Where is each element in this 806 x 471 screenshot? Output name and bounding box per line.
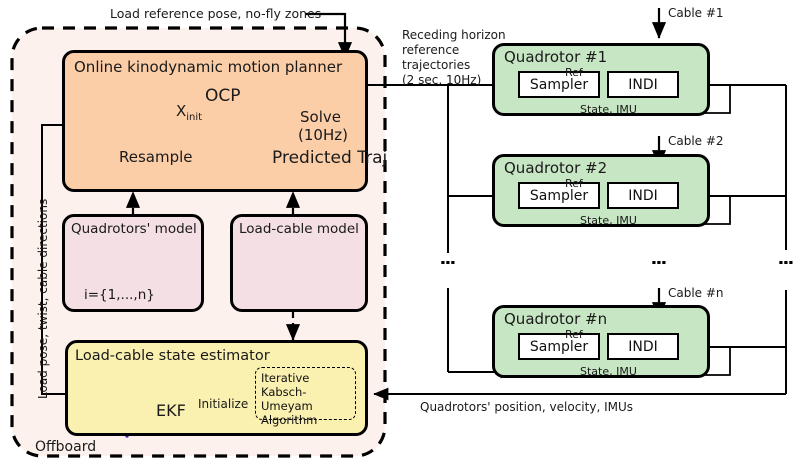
xinit-sub: init bbox=[186, 112, 202, 123]
load-reference-label: Load reference pose, no-fly zones bbox=[110, 7, 321, 21]
cable-1-label: Cable #1 bbox=[668, 7, 724, 20]
quadrotor-2-indi[interactable]: INDI bbox=[607, 182, 679, 209]
receding-line-2: reference bbox=[402, 43, 506, 58]
quadrotor-1-ref-label: Ref bbox=[565, 66, 583, 79]
load-cable-model-title: Load-cable model bbox=[239, 222, 359, 236]
feedback-bus-label: Quadrotors' position, velocity, IMUs bbox=[420, 400, 633, 414]
receding-line-1: Receding horizon bbox=[402, 28, 506, 43]
quadrotors-model-title: Quadrotors' model bbox=[71, 222, 197, 236]
quadrotor-1-state-label: State, IMU bbox=[580, 103, 637, 116]
ekf-label: EKF bbox=[156, 404, 186, 418]
quadrotor-n-ref-label: Ref bbox=[565, 328, 583, 341]
estimator-title: Load-cable state estimator bbox=[75, 348, 270, 365]
solve-label-line1: Solve bbox=[300, 110, 341, 124]
quadrotors-model-caption: i={1,...,n} bbox=[84, 288, 155, 302]
left-bus-label: Load pose, twist, cable directions bbox=[36, 199, 50, 399]
quadrotor-1-indi[interactable]: INDI bbox=[607, 71, 679, 98]
kabsch-umeyama-box[interactable]: Iterative Kabsch-Umeyam Algorithm bbox=[255, 367, 356, 420]
xinit-label: Xinit bbox=[176, 104, 202, 125]
quadrotor-n-indi[interactable]: INDI bbox=[607, 333, 679, 360]
quadrotor-n-state-label: State, IMU bbox=[580, 365, 637, 378]
ocp-node: OCP bbox=[205, 88, 241, 105]
cable-n-label: Cable #n bbox=[668, 287, 724, 300]
quadrotor-n-title: Quadrotor #n bbox=[504, 311, 607, 328]
ellipsis-left: ⋮ bbox=[444, 254, 449, 271]
algo-line-2: Kabsch-Umeyam bbox=[261, 385, 350, 413]
ellipsis-right: ⋮ bbox=[782, 254, 787, 271]
quadrotor-2-sampler[interactable]: Sampler bbox=[518, 182, 600, 209]
cable-2-label: Cable #2 bbox=[668, 135, 724, 148]
system-architecture-diagram: Online kinodynamic motion planner OCP Xi… bbox=[0, 0, 806, 471]
offboard-label: Offboard bbox=[35, 440, 96, 454]
planner-title: Online kinodynamic motion planner bbox=[74, 59, 342, 76]
quadrotor-2-ref-label: Ref bbox=[565, 177, 583, 190]
receding-horizon-label: Receding horizon reference trajectories … bbox=[402, 28, 506, 88]
solve-label-line2: (10Hz) bbox=[298, 128, 348, 142]
algo-line-3: Algorithm bbox=[261, 413, 350, 427]
predicted-traj-node: Predicted Traj bbox=[272, 150, 387, 167]
quadrotor-n-sampler[interactable]: Sampler bbox=[518, 333, 600, 360]
algo-line-1: Iterative bbox=[261, 371, 350, 385]
quadrotor-2-state-label: State, IMU bbox=[580, 214, 637, 227]
resample-label: Resample bbox=[119, 150, 193, 164]
ellipsis-middle: ⋮ bbox=[655, 254, 660, 271]
quadrotor-1-sampler[interactable]: Sampler bbox=[518, 71, 600, 98]
receding-line-4: (2 sec, 10Hz) bbox=[402, 73, 506, 88]
initialize-label: Initialize bbox=[198, 398, 248, 411]
quadrotor-2-title: Quadrotor #2 bbox=[504, 160, 607, 177]
quadrotor-1-title: Quadrotor #1 bbox=[504, 49, 607, 66]
xinit-x: X bbox=[176, 102, 186, 120]
receding-line-3: trajectories bbox=[402, 58, 506, 73]
